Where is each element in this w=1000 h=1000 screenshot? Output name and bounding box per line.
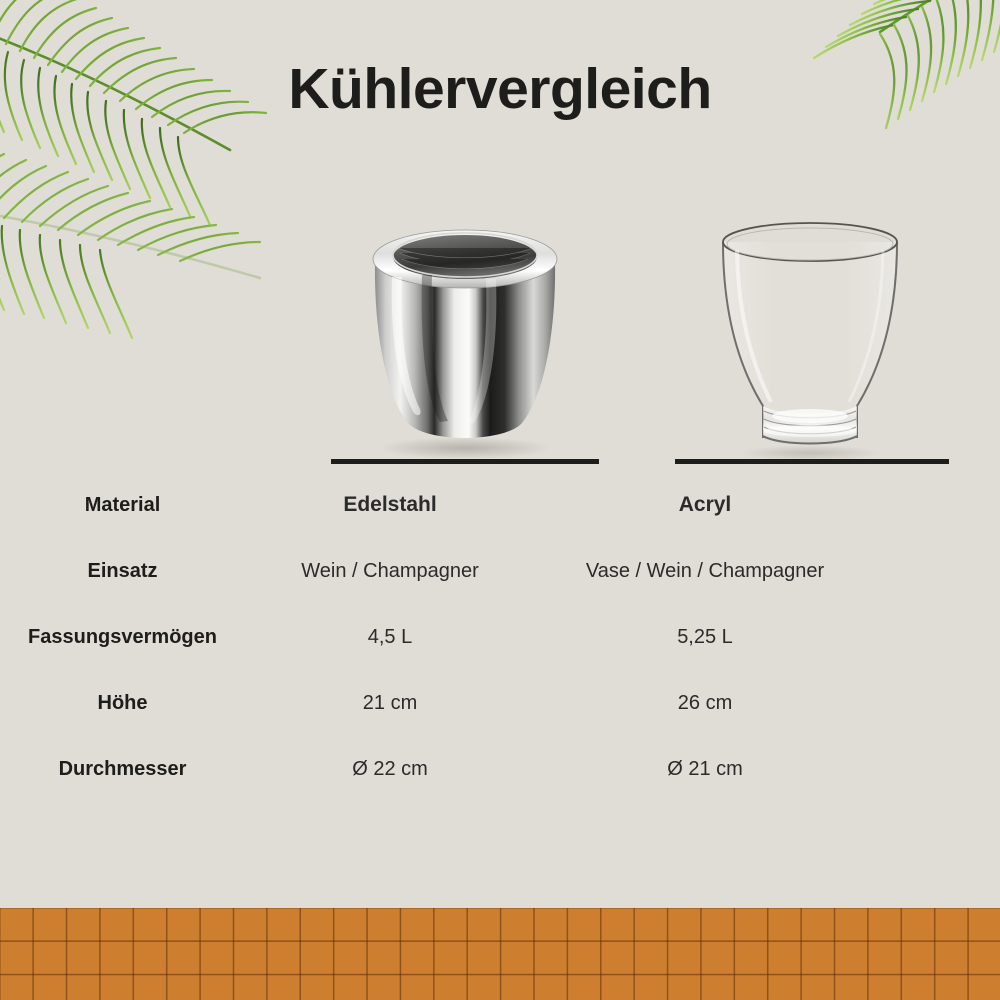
row-value-acryl: Vase / Wein / Champagner <box>535 560 875 583</box>
palm-leaf-icon <box>0 0 290 320</box>
comparison-table: Material Edelstahl Acryl Einsatz Wein / … <box>0 472 1000 802</box>
table-row: Höhe 21 cm 26 cm <box>0 670 1000 736</box>
column-divider-acryl <box>675 459 949 464</box>
row-value-steel: Edelstahl <box>245 493 535 517</box>
orange-tile-pattern <box>0 908 1000 1000</box>
row-value-acryl: 5,25 L <box>535 626 875 649</box>
palm-leaf-icon <box>0 80 270 380</box>
table-row: Durchmesser Ø 22 cm Ø 21 cm <box>0 736 1000 802</box>
table-row: Fassungsvermögen 4,5 L 5,25 L <box>0 604 1000 670</box>
row-label: Höhe <box>0 692 245 715</box>
row-value-acryl: Ø 21 cm <box>535 758 875 781</box>
row-label: Einsatz <box>0 560 245 583</box>
row-label: Durchmesser <box>0 758 245 781</box>
row-value-steel: Ø 22 cm <box>245 758 535 781</box>
row-value-steel: 4,5 L <box>245 626 535 649</box>
row-label: Fassungsvermögen <box>0 626 245 649</box>
table-row: Material Edelstahl Acryl <box>0 472 1000 538</box>
row-value-steel: 21 cm <box>245 692 535 715</box>
row-value-acryl: Acryl <box>535 493 875 517</box>
table-row: Einsatz Wein / Champagner Vase / Wein / … <box>0 538 1000 604</box>
column-divider-steel <box>331 459 599 464</box>
row-label: Material <box>0 494 245 517</box>
page-title: Kühlervergleich <box>0 56 1000 122</box>
row-value-acryl: 26 cm <box>535 692 875 715</box>
acrylic-vase-cooler-image <box>685 210 935 460</box>
stainless-steel-wine-cooler-image <box>340 215 590 460</box>
row-value-steel: Wein / Champagner <box>245 560 535 583</box>
